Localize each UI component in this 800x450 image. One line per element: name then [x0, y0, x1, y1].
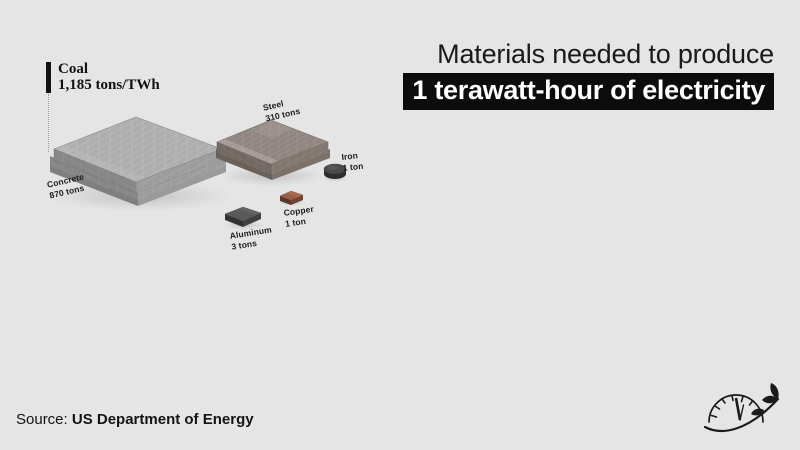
source-name: US Department of Energy: [72, 411, 254, 428]
label-iron: Iron 1 ton: [341, 150, 364, 173]
gauge-leaf-logo-icon: [700, 376, 786, 438]
source-line: Source: US Department of Energy: [16, 411, 254, 428]
material-volumes-illustration: [0, 0, 800, 450]
label-iron-amount: 1 ton: [342, 160, 364, 173]
infographic-canvas: Materials needed to produce 1 terawatt-h…: [0, 0, 800, 450]
source-label: Source:: [16, 411, 68, 428]
label-copper: Copper 1 ton: [283, 204, 316, 229]
